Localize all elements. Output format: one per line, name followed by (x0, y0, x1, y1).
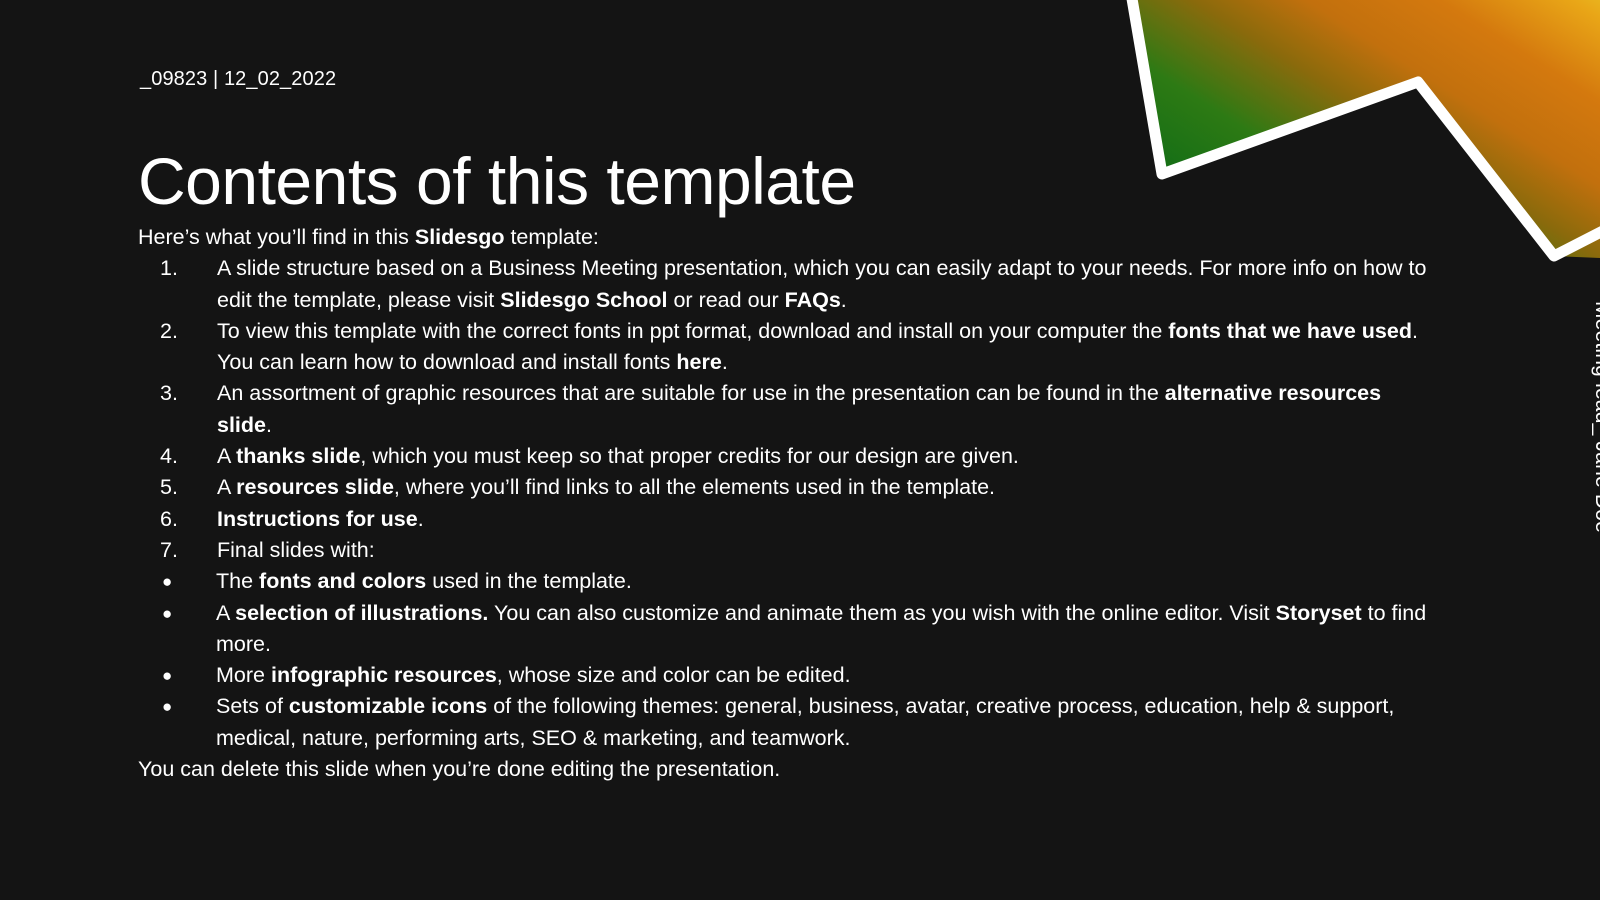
list-item: 1.A slide structure based on a Business … (138, 253, 1428, 316)
list-item: ●More infographic resources, whose size … (138, 660, 1428, 691)
list-text: . (418, 507, 424, 531)
list-text-emphasis: fonts and colors (259, 569, 426, 593)
intro-post: template: (504, 225, 598, 249)
list-text: The (216, 569, 259, 593)
list-text: or read our (668, 288, 785, 312)
list-text: . (841, 288, 847, 312)
list-text-emphasis: thanks slide (236, 444, 360, 468)
list-item: 2.To view this template with the correct… (138, 316, 1428, 379)
list-text: An assortment of graphic resources that … (217, 381, 1165, 405)
list-text-emphasis: resources slide (236, 475, 394, 499)
list-item-number: 7. (160, 535, 194, 566)
list-item: ●The fonts and colors used in the templa… (138, 566, 1428, 597)
list-text: , where you’ll find links to all the ele… (394, 475, 995, 499)
slide-body: Here’s what you’ll find in this Slidesgo… (138, 222, 1428, 785)
list-text: Final slides with: (217, 538, 375, 562)
intro-pre: Here’s what you’ll find in this (138, 225, 415, 249)
list-text: , whose size and color can be edited. (497, 663, 851, 687)
list-text-emphasis: Storyset (1276, 601, 1362, 625)
bullet-icon: ● (162, 598, 172, 629)
list-text-emphasis: infographic resources (271, 663, 497, 687)
list-text-emphasis: fonts that we have used (1168, 319, 1412, 343)
list-item: ●Sets of customizable icons of the follo… (138, 691, 1428, 754)
list-item: 6.Instructions for use. (138, 504, 1428, 535)
list-text: , which you must keep so that proper cre… (360, 444, 1018, 468)
intro-brand: Slidesgo (415, 225, 505, 249)
list-item-number: 2. (160, 316, 194, 347)
list-item-number: 4. (160, 441, 194, 472)
bullet-icon: ● (162, 691, 172, 722)
list-text: To view this template with the correct f… (217, 319, 1168, 343)
closing-note: You can delete this slide when you’re do… (138, 754, 1428, 785)
list-text-emphasis: selection of illustrations. (235, 601, 488, 625)
list-item: 3.An assortment of graphic resources tha… (138, 378, 1428, 441)
side-note-area: Meeting lead_ Jane Doe (1540, 0, 1600, 900)
page-title: Contents of this template (138, 142, 856, 220)
list-text-emphasis: Slidesgo School (500, 288, 667, 312)
bullet-icon: ● (162, 566, 172, 597)
list-text: More (216, 663, 271, 687)
list-item: 7.Final slides with: (138, 535, 1428, 566)
bulleted-sublist: ●The fonts and colors used in the templa… (138, 566, 1428, 754)
list-text-emphasis: here (676, 350, 721, 374)
list-text: A (217, 444, 236, 468)
list-item-number: 5. (160, 472, 194, 503)
list-text: . (266, 413, 272, 437)
list-item-number: 1. (160, 253, 194, 284)
slide-canvas: _09823 | 12_02_2022 Contents of this tem… (0, 0, 1600, 900)
intro-paragraph: Here’s what you’ll find in this Slidesgo… (138, 222, 1428, 253)
list-text: A (217, 475, 236, 499)
list-text: used in the template. (426, 569, 632, 593)
list-text-emphasis: Instructions for use (217, 507, 418, 531)
list-text: You can also customize and animate them … (488, 601, 1275, 625)
list-text-emphasis: FAQs (785, 288, 841, 312)
list-text-emphasis: customizable icons (289, 694, 487, 718)
list-item: 5.A resources slide, where you’ll find l… (138, 472, 1428, 503)
list-text: Sets of (216, 694, 289, 718)
list-text: A (216, 601, 235, 625)
meeting-lead-side-note: Meeting lead_ Jane Doe (1592, 301, 1600, 533)
bullet-icon: ● (162, 660, 172, 691)
slide-eyebrow-code: _09823 | 12_02_2022 (140, 68, 336, 91)
list-item-number: 3. (160, 378, 194, 409)
list-item-number: 6. (160, 504, 194, 535)
list-item: ●A selection of illustrations. You can a… (138, 598, 1428, 661)
list-item: 4.A thanks slide, which you must keep so… (138, 441, 1428, 472)
numbered-list: 1.A slide structure based on a Business … (138, 253, 1428, 566)
list-text: . (722, 350, 728, 374)
